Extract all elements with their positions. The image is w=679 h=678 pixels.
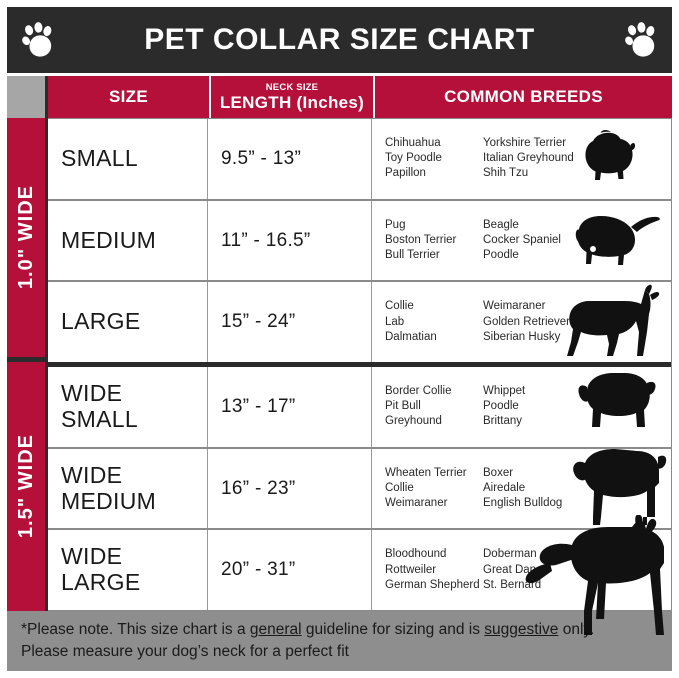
paw-print-icon — [624, 22, 658, 58]
breed-list-primary: Pug Boston Terrier Bull Terrier — [385, 218, 483, 264]
corner-cell — [7, 76, 48, 118]
breed-list-primary: Border Collie Pit Bull Greyhound — [385, 384, 483, 430]
section-label-1-5-wide-text: 1.5" WIDE — [15, 434, 38, 538]
section-label-1-0-wide: 1.0" WIDE — [7, 118, 45, 362]
cell-size: MEDIUM — [48, 201, 208, 281]
breed-list-secondary: Doberman Great Dane St. Bernard — [483, 547, 593, 593]
cell-breeds: Pug Boston Terrier Bull Terrier Beagle C… — [372, 201, 671, 281]
footer-line-1: *Please note. This size chart is a gener… — [21, 619, 658, 641]
breed-list-primary: Collie Lab Dalmatian — [385, 299, 483, 345]
cell-length: 15” - 24” — [208, 282, 372, 362]
breed-list-primary: Wheaten Terrier Collie Weimaraner — [385, 466, 483, 512]
cell-length: 13” - 17” — [208, 367, 372, 447]
cell-length: 20” - 31” — [208, 530, 372, 610]
footer-disclaimer: *Please note. This size chart is a gener… — [7, 611, 672, 671]
cell-breeds: Chihuahua Toy Poodle Papillon Yorkshire … — [372, 119, 671, 199]
table-column-headers: SIZE NECK SIZE LENGTH (Inches) COMMON BR… — [7, 76, 672, 118]
breed-list-secondary: Beagle Cocker Spaniel Poodle — [483, 218, 593, 264]
cell-size: WIDE LARGE — [48, 530, 208, 610]
table-row: WIDE SMALL 13” - 17” Border Collie Pit B… — [48, 367, 671, 449]
column-header-size: SIZE — [48, 76, 211, 118]
cell-length: 9.5” - 13” — [208, 119, 372, 199]
table-row: MEDIUM 11” - 16.5” Pug Boston Terrier Bu… — [48, 201, 671, 283]
cell-length: 16” - 23” — [208, 449, 372, 529]
cell-size: SMALL — [48, 119, 208, 199]
breed-list-secondary: Yorkshire Terrier Italian Greyhound Shih… — [483, 136, 593, 182]
table-row: SMALL 9.5” - 13” Chihuahua Toy Poodle Pa… — [48, 119, 671, 201]
breed-list-secondary: Weimaraner Golden Retriever Siberian Hus… — [483, 299, 593, 345]
table-row: WIDE LARGE 20” - 31” Bloodhound Rottweil… — [48, 530, 671, 610]
cell-breeds: Collie Lab Dalmatian Weimaraner Golden R… — [372, 282, 671, 362]
cell-breeds: Wheaten Terrier Collie Weimaraner Boxer … — [372, 449, 671, 529]
column-header-length: NECK SIZE LENGTH (Inches) — [211, 76, 375, 118]
cell-breeds: Border Collie Pit Bull Greyhound Whippet… — [372, 367, 671, 447]
pet-collar-size-chart: PET COLLAR SIZE CHART SIZE NECK SIZE LEN… — [0, 0, 679, 678]
breed-list-primary: Bloodhound Rottweiler German Shepherd — [385, 547, 483, 593]
breed-list-secondary: Whippet Poodle Brittany — [483, 384, 593, 430]
table-body: 1.0" WIDE 1.5" WIDE SMALL 9.5” - 13” Chi… — [7, 118, 672, 611]
footer-underline-suggestive: suggestive — [484, 621, 558, 638]
cell-size: WIDE MEDIUM — [48, 449, 208, 529]
footer-text-b: guideline for sizing and is — [302, 621, 485, 638]
table-rows: SMALL 9.5” - 13” Chihuahua Toy Poodle Pa… — [48, 118, 672, 611]
chart-header-bar: PET COLLAR SIZE CHART — [7, 7, 672, 73]
section-label-1-5-wide: 1.5" WIDE — [7, 362, 45, 611]
footer-text-a: *Please note. This size chart is a — [21, 621, 250, 638]
section-label-column: 1.0" WIDE 1.5" WIDE — [7, 118, 48, 611]
footer-line-2: Please measure your dog’s neck for a per… — [21, 641, 658, 663]
paw-print-icon — [21, 22, 55, 58]
section-label-1-0-wide-text: 1.0" WIDE — [15, 185, 38, 289]
page-title: PET COLLAR SIZE CHART — [55, 25, 624, 55]
cell-size: LARGE — [48, 282, 208, 362]
footer-underline-general: general — [250, 621, 302, 638]
column-header-size-label: SIZE — [109, 88, 148, 106]
table-row: LARGE 15” - 24” Collie Lab Dalmatian Wei… — [48, 282, 671, 367]
column-header-breeds-label: COMMON BREEDS — [444, 88, 603, 106]
breed-list-primary: Chihuahua Toy Poodle Papillon — [385, 136, 483, 182]
cell-breeds: Bloodhound Rottweiler German Shepherd Do… — [372, 530, 671, 610]
breed-list-secondary: Boxer Airedale English Bulldog — [483, 466, 593, 512]
column-header-length-sublabel: NECK SIZE — [266, 83, 318, 93]
column-header-breeds: COMMON BREEDS — [375, 76, 672, 118]
column-header-length-label: LENGTH (Inches) — [220, 94, 364, 112]
table-row: WIDE MEDIUM 16” - 23” Wheaten Terrier Co… — [48, 449, 671, 531]
footer-text-c: only. — [558, 621, 594, 638]
cell-size: WIDE SMALL — [48, 367, 208, 447]
cell-length: 11” - 16.5” — [208, 201, 372, 281]
